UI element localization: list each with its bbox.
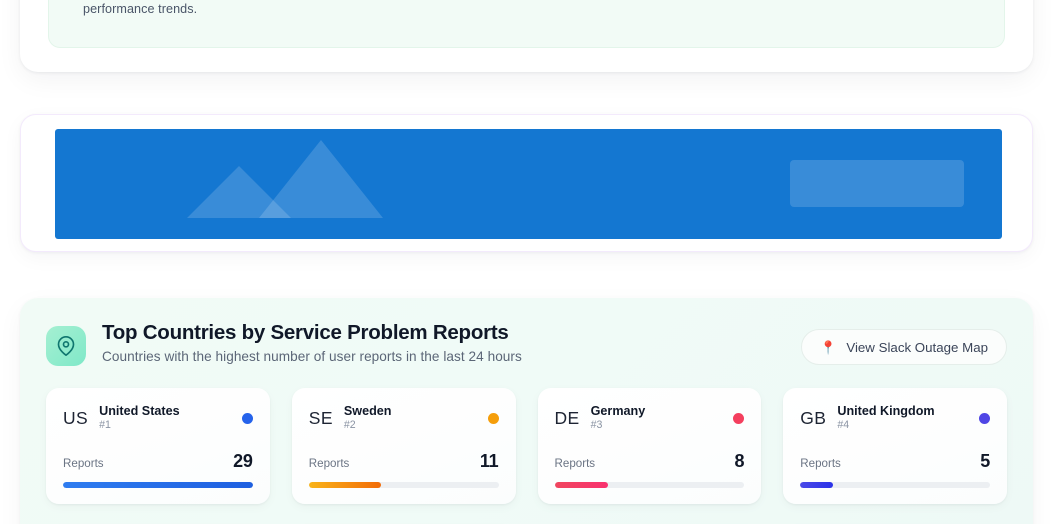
location-pin-icon xyxy=(46,326,86,366)
country-code: GB xyxy=(800,408,826,429)
country-code: DE xyxy=(555,408,580,429)
view-outage-map-button[interactable]: 📍 View Slack Outage Map xyxy=(801,329,1007,365)
reports-progress-fill xyxy=(800,482,832,488)
country-rank: #4 xyxy=(837,419,979,432)
insight-card: Consistent patterns may reveal recurring… xyxy=(20,0,1033,72)
country-rank: #2 xyxy=(344,419,488,432)
country-card-header: DE Germany #3 xyxy=(555,404,745,432)
country-code: US xyxy=(63,408,88,429)
banner-card xyxy=(20,114,1033,252)
page-title: Top Countries by Service Problem Reports xyxy=(102,320,801,346)
status-dot xyxy=(488,413,499,424)
page-subtitle: Countries with the highest number of use… xyxy=(102,349,801,364)
country-reports-row: Reports 8 xyxy=(555,451,745,472)
country-card[interactable]: DE Germany #3 Reports 8 xyxy=(538,388,762,504)
country-reports-row: Reports 5 xyxy=(800,451,990,472)
reports-value: 11 xyxy=(480,451,499,472)
country-name: United Kingdom xyxy=(837,404,979,418)
section-header-text: Top Countries by Service Problem Reports… xyxy=(102,320,801,364)
country-cards-grid-next-row xyxy=(20,504,1033,524)
banner-image-placeholder[interactable] xyxy=(55,129,1002,239)
reports-progress-track xyxy=(63,482,253,488)
reports-label: Reports xyxy=(63,457,104,470)
banner-text-placeholder-block xyxy=(790,160,964,207)
country-reports-row: Reports 11 xyxy=(309,451,499,472)
reports-progress-track xyxy=(309,482,499,488)
page-root: Consistent patterns may reveal recurring… xyxy=(0,0,1053,524)
reports-value: 5 xyxy=(980,451,990,472)
status-dot xyxy=(242,413,253,424)
map-pin-emoji-icon: 📍 xyxy=(820,341,836,354)
country-name: Germany xyxy=(591,404,734,418)
country-name-block: United States #1 xyxy=(99,404,242,432)
country-card[interactable]: SE Sweden #2 Reports 11 xyxy=(292,388,516,504)
country-card[interactable]: US United States #1 Reports 29 xyxy=(46,388,270,504)
view-outage-map-label: View Slack Outage Map xyxy=(846,340,988,355)
reports-label: Reports xyxy=(800,457,841,470)
country-code: SE xyxy=(309,408,333,429)
reports-label: Reports xyxy=(555,457,596,470)
country-card-header: SE Sweden #2 xyxy=(309,404,499,432)
country-rank: #1 xyxy=(99,419,242,432)
country-card-header: GB United Kingdom #4 xyxy=(800,404,990,432)
country-card[interactable]: GB United Kingdom #4 Reports 5 xyxy=(783,388,1007,504)
mountain-large-icon xyxy=(259,140,383,218)
insight-callout: Consistent patterns may reveal recurring… xyxy=(48,0,1005,48)
reports-progress-fill xyxy=(555,482,608,488)
reports-value: 29 xyxy=(233,451,253,472)
country-rank: #3 xyxy=(591,419,734,432)
country-cards-grid: US United States #1 Reports 29 xyxy=(20,366,1033,504)
top-countries-section: Top Countries by Service Problem Reports… xyxy=(20,298,1033,524)
reports-progress-fill xyxy=(309,482,381,488)
reports-progress-track xyxy=(555,482,745,488)
country-card-header: US United States #1 xyxy=(63,404,253,432)
reports-progress-track xyxy=(800,482,990,488)
country-name: Sweden xyxy=(344,404,488,418)
reports-value: 8 xyxy=(734,451,744,472)
country-reports-row: Reports 29 xyxy=(63,451,253,472)
insight-text: Consistent patterns may reveal recurring… xyxy=(83,0,984,19)
country-name-block: United Kingdom #4 xyxy=(837,404,979,432)
status-dot xyxy=(733,413,744,424)
reports-progress-fill xyxy=(63,482,253,488)
country-name: United States xyxy=(99,404,242,418)
section-header: Top Countries by Service Problem Reports… xyxy=(20,298,1033,366)
reports-label: Reports xyxy=(309,457,350,470)
country-name-block: Sweden #2 xyxy=(344,404,488,432)
status-dot xyxy=(979,413,990,424)
country-name-block: Germany #3 xyxy=(591,404,734,432)
